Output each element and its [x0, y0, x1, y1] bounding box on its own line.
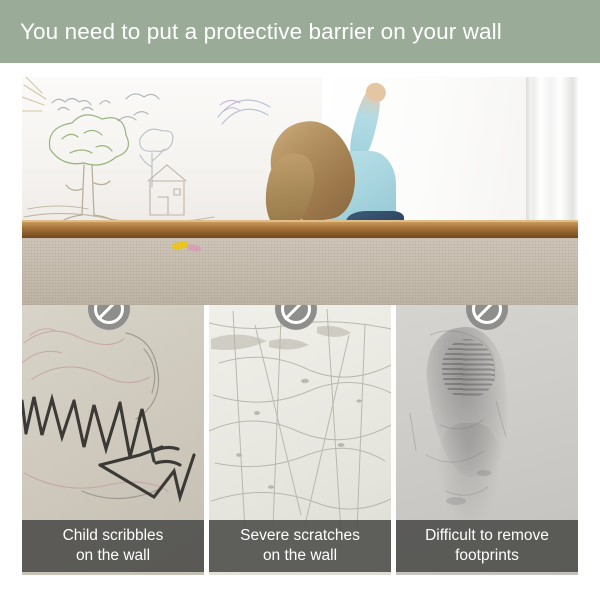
panel-severe-scratches: Severe scratches on the wall [209, 305, 391, 575]
panel-caption-3: Difficult to remove footprints [396, 520, 578, 572]
panel-caption-text: Severe scratches on the wall [240, 526, 360, 567]
panel-caption-text: Difficult to remove footprints [425, 526, 549, 567]
panel-difficult-footprints: Difficult to remove footprints [396, 305, 578, 575]
panel-caption-1: Child scribbles on the wall [22, 520, 204, 572]
scribble-marks [22, 305, 204, 537]
page-title: You need to put a protective barrier on … [0, 19, 502, 45]
panel-caption-2: Severe scratches on the wall [209, 520, 391, 572]
child-figure [258, 83, 408, 238]
carpet-floor [22, 238, 578, 305]
hero-image [22, 77, 578, 305]
panel-caption-text: Child scribbles on the wall [63, 526, 164, 567]
scratch-marks [209, 305, 391, 537]
panel-child-scribbles: Child scribbles on the wall [22, 305, 204, 575]
problem-panels: Child scribbles on the wall [22, 305, 578, 575]
header-banner: You need to put a protective barrier on … [0, 0, 600, 63]
door-panel [532, 77, 578, 229]
footprint-smear [436, 423, 502, 533]
wooden-baseboard [22, 222, 578, 238]
